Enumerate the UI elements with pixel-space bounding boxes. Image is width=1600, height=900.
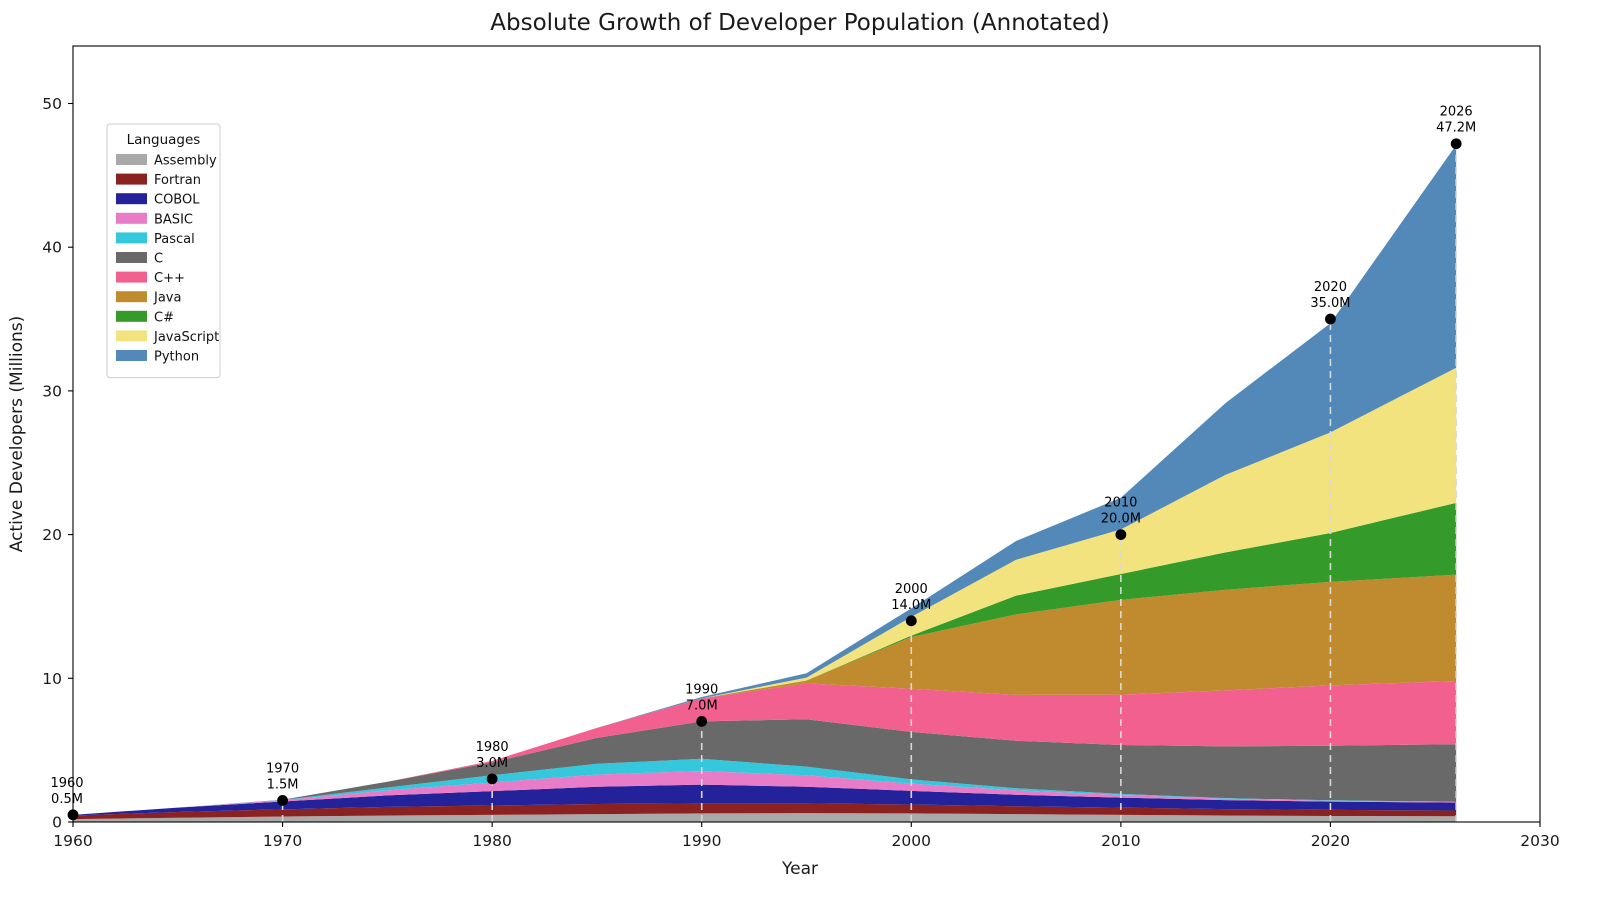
- x-tick-label-2000: 2000: [892, 832, 931, 850]
- annotation-value-1970: 1.5M: [267, 777, 299, 792]
- annotation-year-2000: 2000: [895, 582, 928, 597]
- legend-swatch-python: [116, 350, 147, 361]
- x-tick-label-1970: 1970: [263, 832, 302, 850]
- y-tick-label-50: 50: [42, 95, 62, 113]
- legend-label-c-: C++: [154, 271, 185, 286]
- y-tick-label-30: 30: [42, 382, 62, 400]
- annotation-value-2000: 14.0M: [891, 598, 931, 613]
- legend-label-c: C: [154, 252, 163, 267]
- legend-swatch-pascal: [116, 232, 147, 243]
- annotation-year-1970: 1970: [266, 761, 299, 776]
- legend-label-basic: BASIC: [154, 212, 193, 227]
- annotation-marker-1970[interactable]: [277, 795, 288, 806]
- legend-swatch-assembly: [116, 154, 147, 165]
- legend-swatch-c-: [116, 272, 147, 283]
- annotation-marker-2020[interactable]: [1325, 314, 1336, 325]
- legend-label-javascript: JavaScript: [153, 330, 219, 345]
- chart-figure: Absolute Growth of Developer Population …: [0, 0, 1600, 900]
- annotation-marker-2000[interactable]: [906, 615, 917, 626]
- annotation-year-2020: 2020: [1314, 280, 1347, 295]
- x-tick-label-2030: 2030: [1520, 832, 1559, 850]
- legend-swatch-basic: [116, 213, 147, 224]
- x-tick-label-1990: 1990: [682, 832, 721, 850]
- annotation-value-1990: 7.0M: [686, 698, 718, 713]
- legend-swatch-cobol: [116, 193, 147, 204]
- legend-swatch-c: [116, 252, 147, 263]
- y-tick-label-10: 10: [42, 670, 62, 688]
- annotation-value-2020: 35.0M: [1310, 296, 1350, 311]
- annotation-marker-2026[interactable]: [1451, 138, 1462, 149]
- x-tick-label-1980: 1980: [472, 832, 511, 850]
- page-title: Absolute Growth of Developer Population …: [490, 10, 1109, 36]
- annotation-year-1960: 1960: [50, 776, 83, 791]
- legend-label-python: Python: [154, 350, 199, 365]
- legend[interactable]: LanguagesAssemblyFortranCOBOLBASICPascal…: [107, 124, 220, 378]
- annotation-marker-1980[interactable]: [487, 773, 498, 784]
- annotation-marker-2010[interactable]: [1115, 529, 1126, 540]
- annotation-year-1980: 1980: [476, 740, 509, 755]
- legend-swatch-javascript: [116, 330, 147, 341]
- x-tick-label-1960: 1960: [53, 832, 92, 850]
- annotation-value-2010: 20.0M: [1101, 512, 1141, 527]
- legend-label-assembly: Assembly: [154, 154, 217, 169]
- annotation-value-2026: 47.2M: [1436, 121, 1476, 136]
- annotation-year-2010: 2010: [1104, 496, 1137, 511]
- annotation-value-1980: 3.0M: [476, 756, 508, 771]
- x-tick-label-2010: 2010: [1101, 832, 1140, 850]
- legend-swatch-java: [116, 291, 147, 302]
- x-tick-label-2020: 2020: [1311, 832, 1350, 850]
- y-tick-label-40: 40: [42, 239, 62, 257]
- legend-label-fortran: Fortran: [154, 173, 201, 188]
- annotation-marker-1990[interactable]: [696, 716, 707, 727]
- legend-swatch-fortran: [116, 174, 147, 185]
- y-tick-label-0: 0: [52, 814, 62, 832]
- annotation-value-1960: 0.5M: [51, 792, 83, 807]
- legend-title: Languages: [127, 132, 201, 148]
- legend-swatch-c-: [116, 311, 147, 322]
- stacked-area-chart: Absolute Growth of Developer Population …: [0, 0, 1600, 900]
- x-axis-label: Year: [781, 859, 818, 879]
- annotation-marker-1960[interactable]: [68, 809, 79, 820]
- legend-label-java: Java: [153, 291, 181, 306]
- annotation-year-1990: 1990: [685, 682, 718, 697]
- y-axis-label: Active Developers (Millions): [7, 316, 27, 553]
- annotation-year-2026: 2026: [1440, 105, 1473, 120]
- legend-label-cobol: COBOL: [154, 193, 200, 208]
- y-tick-label-20: 20: [42, 526, 62, 544]
- legend-label-c-: C#: [154, 310, 174, 325]
- legend-label-pascal: Pascal: [154, 232, 195, 247]
